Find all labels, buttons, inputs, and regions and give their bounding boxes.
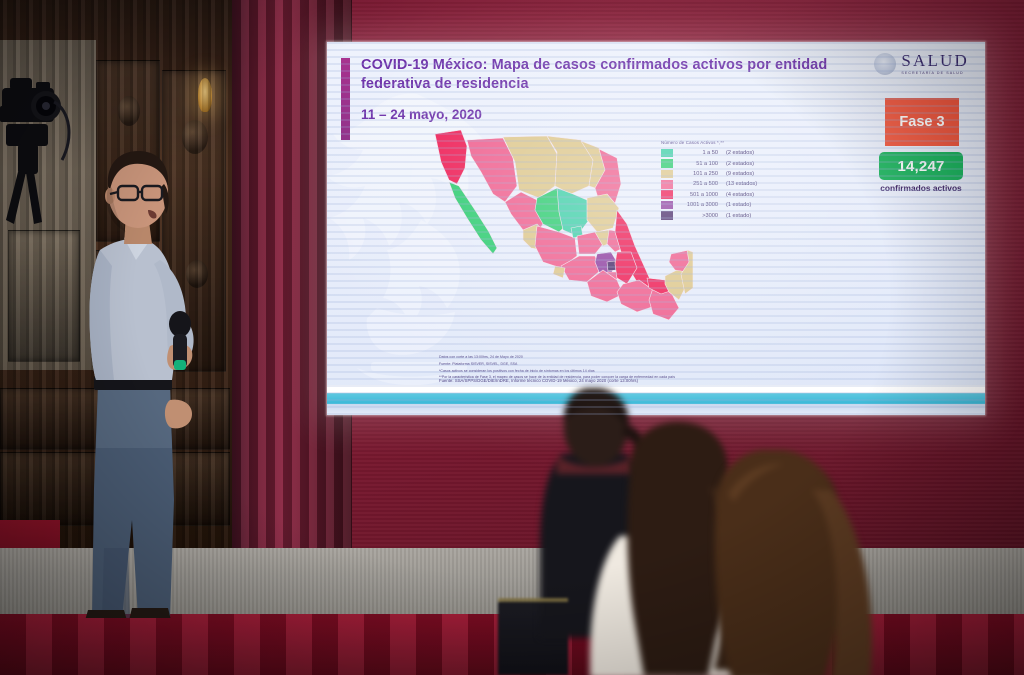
legend-range: >3000 bbox=[678, 213, 726, 219]
projected-slide: COVID-19 México: Mapa de casos confirmad… bbox=[327, 42, 985, 415]
chair-trim bbox=[498, 598, 568, 602]
legend-range: 51 a 100 bbox=[678, 161, 726, 167]
legend-range: 251 a 500 bbox=[678, 181, 726, 187]
legend-count: (9 estados) bbox=[726, 171, 754, 177]
legend-swatch bbox=[661, 190, 673, 199]
legend-count: (2 estados) bbox=[726, 150, 754, 156]
legend-range: 101 a 250 bbox=[678, 171, 726, 177]
legend-rows: 1 a 50(2 estados)51 a 100(2 estados)101 … bbox=[661, 148, 757, 221]
audience-member bbox=[672, 450, 882, 675]
slide-title-block: COVID-19 México: Mapa de casos confirmad… bbox=[361, 56, 841, 122]
legend-count: (1 estado) bbox=[726, 213, 751, 219]
slide-title: COVID-19 México: Mapa de casos confirmad… bbox=[361, 56, 841, 94]
press-conference-scene: COVID-19 México: Mapa de casos confirmad… bbox=[0, 0, 1024, 675]
title-accent-bar bbox=[341, 58, 350, 140]
legend-count: (2 estados) bbox=[726, 161, 754, 167]
salud-wordmark: SALUD bbox=[901, 51, 969, 70]
legend-swatch bbox=[661, 149, 673, 158]
map-state bbox=[435, 130, 467, 184]
active-cases-caption: confirmados activos bbox=[879, 183, 963, 194]
speaker-presenter bbox=[74, 148, 214, 618]
legend-item: 51 a 100(2 estados) bbox=[661, 158, 757, 168]
legend-count: (4 estados) bbox=[726, 192, 754, 198]
map-state bbox=[449, 182, 497, 254]
legend-item: 1 a 50(2 estados) bbox=[661, 148, 757, 158]
salud-logo: SALUD SECRETARÍA DE SALUD bbox=[874, 52, 969, 76]
slide-source: Fuente: SSA/SPPS/DGE/DIE/InDRE, Informe … bbox=[439, 378, 638, 383]
legend-item: 251 a 500(13 estados) bbox=[661, 179, 757, 189]
legend-item: >3000(1 estado) bbox=[661, 210, 757, 220]
legend-item: 1001 a 3000(1 estado) bbox=[661, 200, 757, 210]
phase-label: Fase 3 bbox=[899, 114, 944, 130]
legend-count: (1 estado) bbox=[726, 202, 751, 208]
mexican-eagle-seal-icon bbox=[874, 53, 896, 75]
legend-item: 501 a 1000(4 estados) bbox=[661, 190, 757, 200]
salud-subtitle: SECRETARÍA DE SALUD bbox=[901, 72, 969, 76]
legend-item: 101 a 250(9 estados) bbox=[661, 169, 757, 179]
footnote-line: Datos con corte a las 13:00hrs, 24 de Ma… bbox=[439, 354, 675, 361]
legend-header: Número de Casos Activos *,** bbox=[661, 140, 757, 145]
legend-swatch bbox=[661, 159, 673, 168]
map-state bbox=[553, 266, 565, 278]
footnote-line: Fuente: Plataforma SISVER, SISVEL, DGE, … bbox=[439, 361, 675, 368]
legend-range: 501 a 1000 bbox=[678, 192, 726, 198]
wood-carving bbox=[118, 96, 140, 126]
mexico-choropleth-map bbox=[431, 128, 693, 348]
slide-date-range: 11 – 24 mayo, 2020 bbox=[361, 107, 841, 122]
legend-swatch bbox=[661, 211, 673, 220]
wall-lamp bbox=[198, 78, 212, 112]
legend-range: 1001 a 3000 bbox=[678, 202, 726, 208]
legend-swatch bbox=[661, 170, 673, 179]
map-legend: Número de Casos Activos *,** 1 a 50(2 es… bbox=[661, 140, 757, 221]
legend-swatch bbox=[661, 201, 673, 210]
phase-badge: Fase 3 bbox=[885, 98, 959, 146]
legend-count: (13 estados) bbox=[726, 181, 757, 187]
active-cases-value: 14,247 bbox=[897, 158, 944, 175]
legend-range: 1 a 50 bbox=[678, 150, 726, 156]
wood-panel bbox=[8, 230, 80, 362]
broadcast-camera bbox=[0, 52, 86, 242]
map-state bbox=[607, 261, 616, 271]
footnote-line: *Casos activos se consideran los positiv… bbox=[439, 368, 675, 375]
active-cases-badge: 14,247 bbox=[879, 152, 963, 180]
legend-swatch bbox=[661, 180, 673, 189]
